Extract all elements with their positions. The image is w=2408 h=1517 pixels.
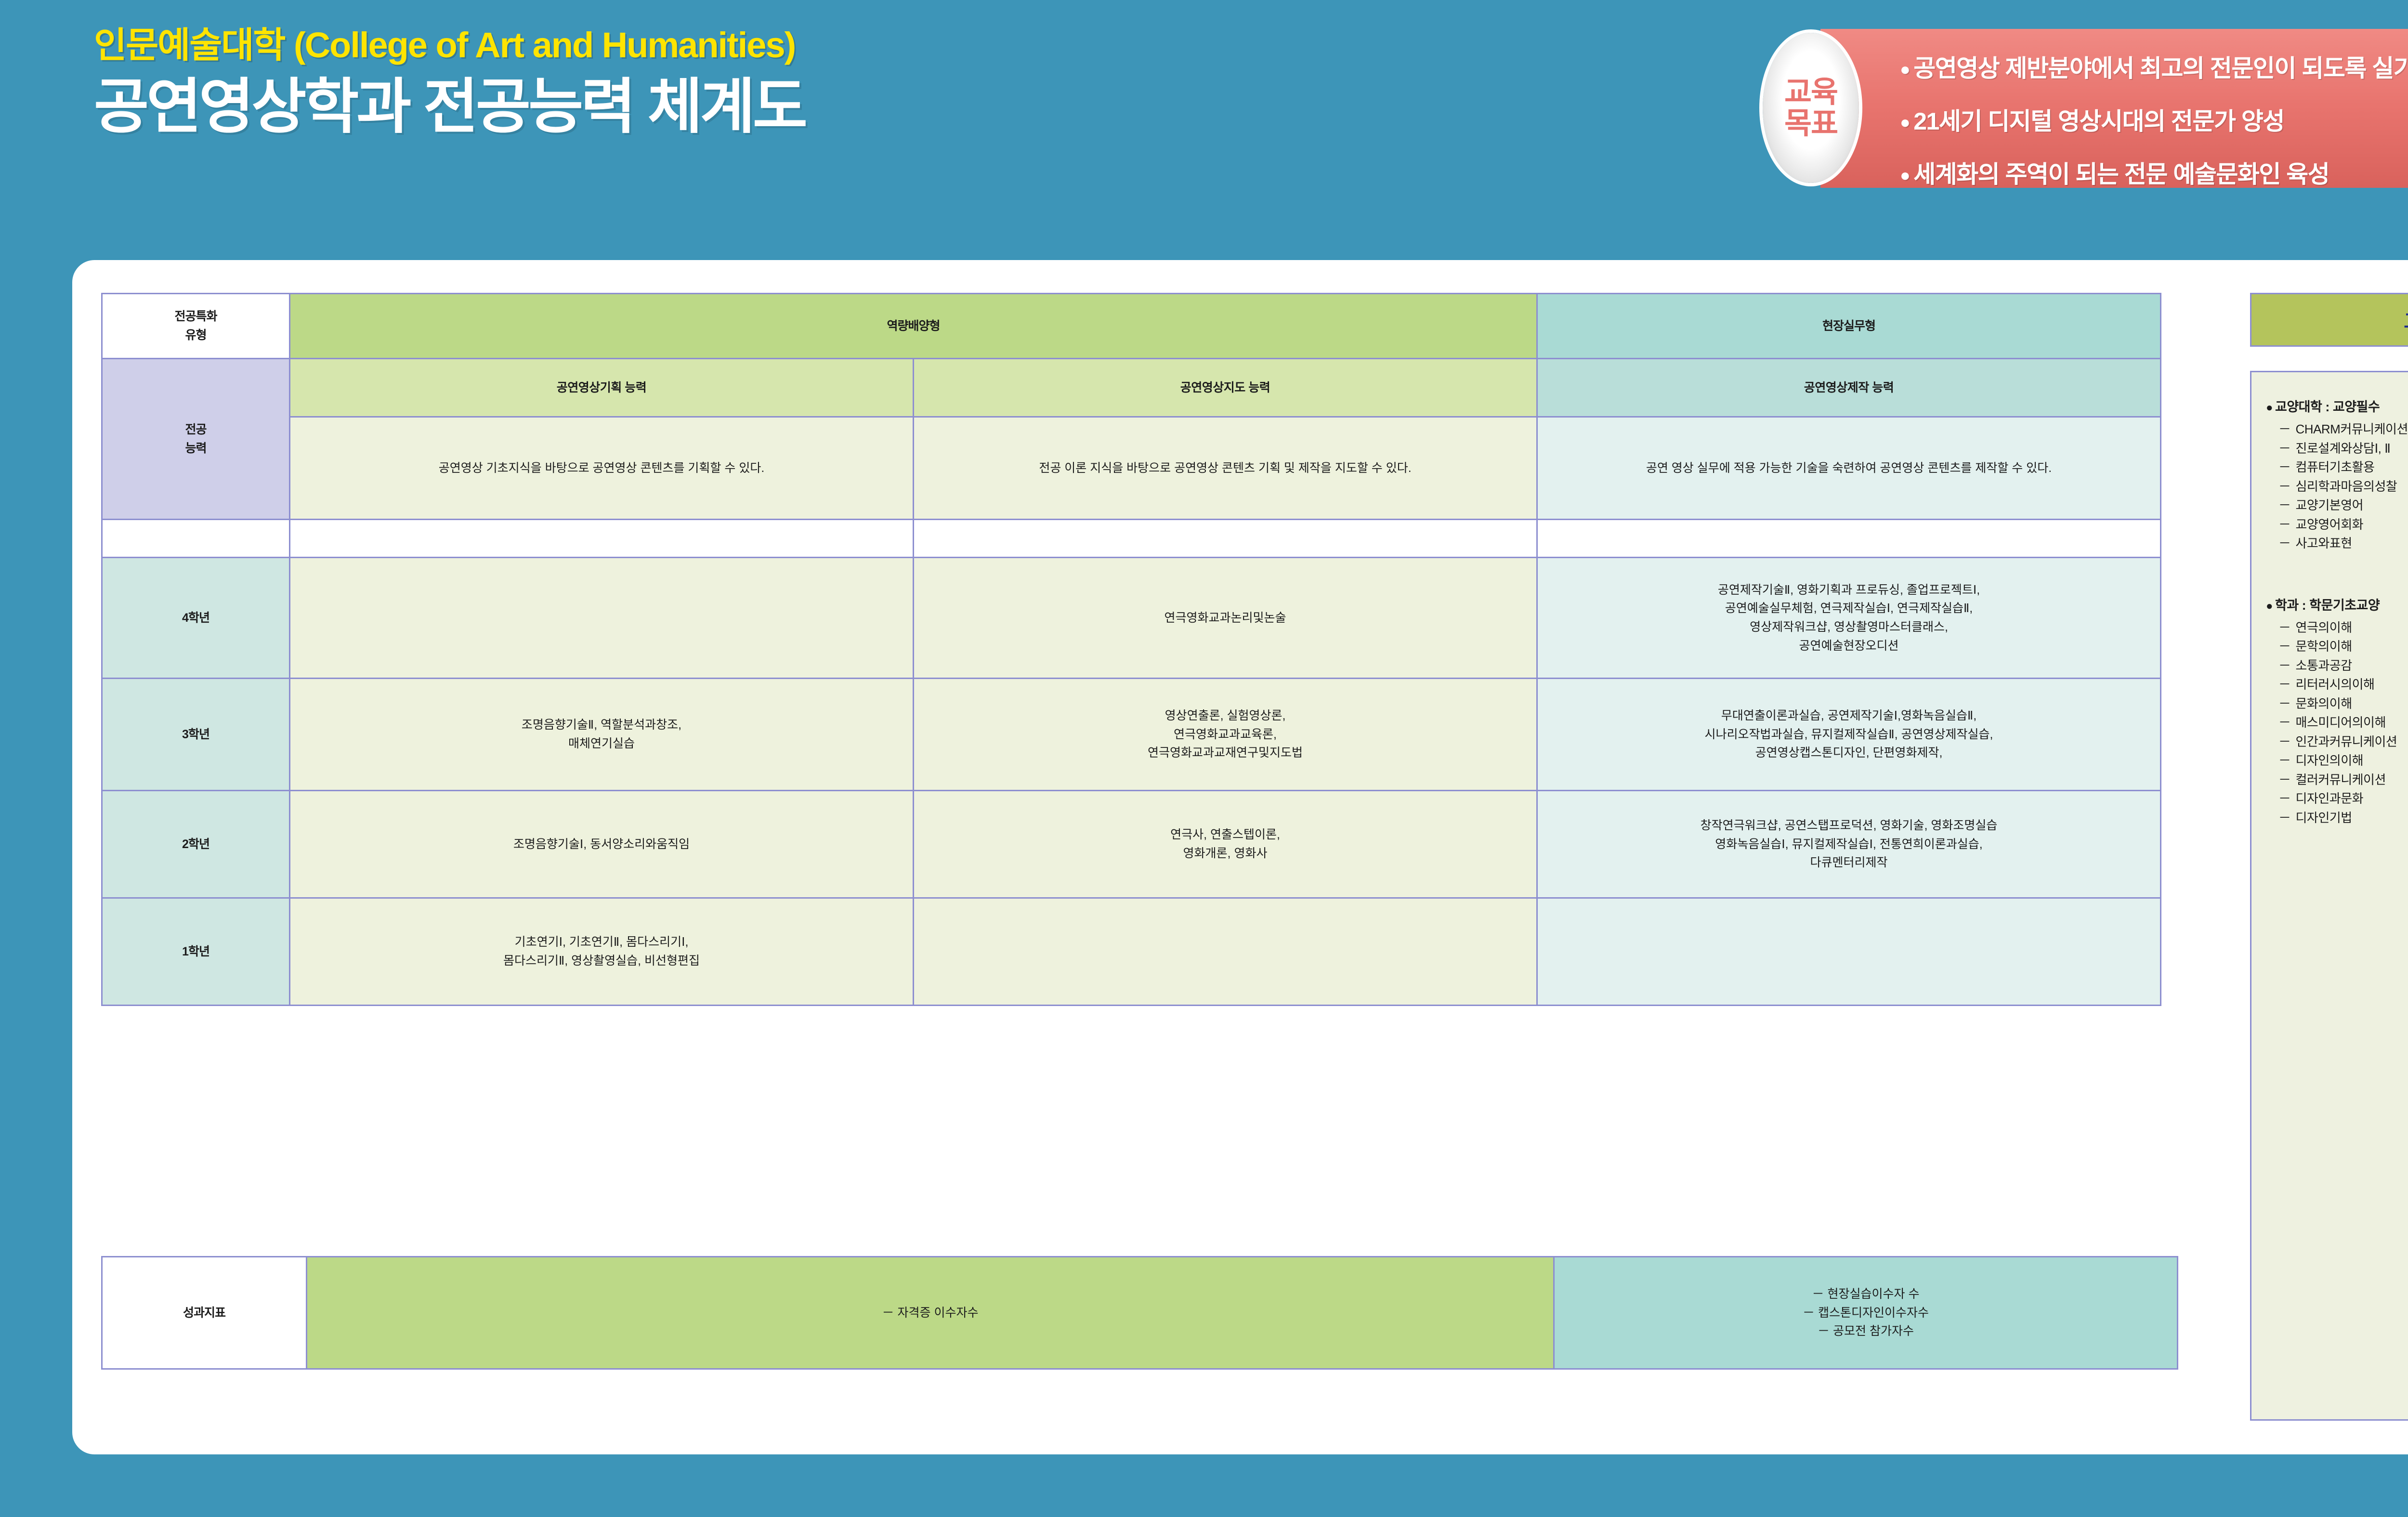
item-text: 문화의이해 — [2296, 696, 2352, 711]
liberal-group-foundation: ●학과 : 학문기초교양 －연극의이해 －문학의이해 －소통과공감 －리터러시의… — [2266, 596, 2408, 828]
dash-icon: － — [2278, 811, 2291, 825]
item-text: 컬러커뮤니케이션 — [2296, 772, 2386, 787]
item-text: 매스미디어의이해 — [2296, 715, 2386, 730]
kpi-item: － 공모전 참가자수 — [1562, 1322, 2169, 1341]
liberal-item: －인간과커뮤니케이션 — [2266, 732, 2408, 752]
group-title-text: 학과 : 학문기초교양 — [2275, 598, 2380, 613]
course-line: 연극영화교과교육론, — [922, 725, 1529, 744]
education-goal-badge-text: 교육 목표 — [1784, 77, 1837, 139]
matrix-spacer-row — [102, 520, 2161, 558]
track-header-practical: 현장실무형 — [1537, 294, 2161, 359]
dash-icon: － — [2278, 715, 2291, 730]
liberal-item: －매스미디어의이해 — [2266, 713, 2408, 732]
education-goals-banner: 교육 목표 ●공연영상 제반분야에서 최고의 전문인이 되도록 실기교육 강화 … — [1763, 29, 2408, 188]
competency-label-line-2: 능력 — [110, 439, 281, 458]
bullet-icon: ● — [2266, 600, 2273, 613]
competency-row-label: 전공 능력 — [102, 359, 290, 520]
year-label-1: 1학년 — [102, 898, 290, 1006]
dash-icon: － — [2278, 517, 2291, 532]
dash-icon: － — [2278, 498, 2291, 512]
group-title-text: 교양대학 : 교양필수 — [2275, 400, 2380, 414]
goal-text: 공연영상 제반분야에서 최고의 전문인이 되도록 실기교육 강화 — [1913, 55, 2408, 82]
liberal-item: －사고와표현 — [2266, 534, 2408, 553]
course-line: 매체연기실습 — [298, 734, 905, 753]
liberal-group-required: ●교양대학 : 교양필수 －CHARM커뮤니케이션 －진로설계와상담Ⅰ, Ⅱ －… — [2266, 397, 2408, 553]
panel-gap — [2266, 566, 2408, 596]
liberal-item: －연극의이해 — [2266, 618, 2408, 638]
dash-icon: － — [2278, 696, 2291, 711]
year4-production-courses: 공연제작기술Ⅱ, 영화기획과 프로듀싱, 졸업프로젝트Ⅰ, 공연예술실무체험, … — [1537, 558, 2161, 679]
liberal-item: －디자인과문화 — [2266, 789, 2408, 809]
competency-desc-teaching: 전공 이론 지식을 바탕으로 공연영상 콘텐츠 기획 및 제작을 지도할 수 있… — [914, 417, 1537, 520]
item-text: CHARM커뮤니케이션 — [2296, 422, 2408, 436]
liberal-item: －교양기본영어 — [2266, 496, 2408, 515]
competency-desc-planning: 공연영상 기초지식을 바탕으로 공연영상 콘텐츠를 기획할 수 있다. — [290, 417, 914, 520]
goal-badge-line-1: 교육 — [1784, 77, 1837, 108]
kpi-item: － 자격증 이수자수 — [315, 1304, 1545, 1322]
performance-indicator-table: 성과지표 － 자격증 이수자수 － 현장실습이수자 수 － 캡스톤디자인이수자수… — [101, 1256, 2178, 1370]
item-text: 인간과커뮤니케이션 — [2296, 734, 2397, 749]
dash-icon: － — [2278, 658, 2291, 673]
liberal-group-title: ●학과 : 학문기초교양 — [2266, 596, 2408, 615]
course-line: 공연예술현장오디션 — [1545, 637, 2152, 655]
goal-text: 21세기 디지털 영상시대의 전문가 양성 — [1913, 108, 2284, 135]
dash-icon: － — [2278, 620, 2291, 635]
page-header: 인문예술대학 (College of Art and Humanities) 공… — [0, 0, 2408, 250]
item-text: 소통과공감 — [2296, 658, 2352, 673]
competency-name-planning: 공연영상기획 능력 — [290, 359, 914, 417]
year1-planning-courses: 기초연기Ⅰ, 기초연기Ⅱ, 몸다스리기Ⅰ, 몸다스리기Ⅱ, 영상촬영실습, 비선… — [290, 898, 914, 1006]
competency-name-teaching: 공연영상지도 능력 — [914, 359, 1537, 417]
liberal-item: －컴퓨터기초활용 — [2266, 458, 2408, 477]
year-label-3: 3학년 — [102, 679, 290, 791]
course-line: 기초연기Ⅰ, 기초연기Ⅱ, 몸다스리기Ⅰ, — [298, 933, 905, 952]
dash-icon: － — [2278, 479, 2291, 494]
type-header-line-2: 유형 — [110, 326, 281, 345]
dash-icon: － — [2278, 536, 2291, 550]
course-line: 연극영화교과교재연구및지도법 — [922, 744, 1529, 762]
matrix-header-row: 전공특화 유형 역량배양형 현장실무형 — [102, 294, 2161, 359]
year-row-1: 1학년 기초연기Ⅰ, 기초연기Ⅱ, 몸다스리기Ⅰ, 몸다스리기Ⅱ, 영상촬영실습… — [102, 898, 2161, 1006]
goal-badge-line-2: 목표 — [1784, 108, 1837, 139]
dash-icon: － — [2278, 639, 2291, 654]
course-line: 시나리오작법과실습, 뮤지컬제작실습Ⅱ, 공연영상제작실습, — [1545, 725, 2152, 744]
item-text: 디자인기법 — [2296, 811, 2352, 825]
competency-matrix-table: 전공특화 유형 역량배양형 현장실무형 전공 능력 공연영상기획 능력 공연영상… — [101, 293, 2161, 1006]
dash-icon: － — [2278, 460, 2291, 474]
year-label-2: 2학년 — [102, 791, 290, 898]
course-line: 공연예술실무체험, 연극제작실습Ⅰ, 연극제작실습Ⅱ, — [1545, 599, 2152, 618]
liberal-item: －CHARM커뮤니케이션 — [2266, 420, 2408, 439]
liberal-item: －디자인의이해 — [2266, 751, 2408, 771]
item-text: 교양영어회화 — [2296, 517, 2364, 532]
year1-production-courses — [1537, 898, 2161, 1006]
item-text: 진로설계와상담Ⅰ, Ⅱ — [2296, 441, 2391, 456]
matrix-type-header: 전공특화 유형 — [102, 294, 290, 359]
course-line: 조명음향기술Ⅱ, 역할분석과창조, — [298, 716, 905, 734]
liberal-item: －컬러커뮤니케이션 — [2266, 771, 2408, 790]
course-line: 영상제작워크샵, 영상촬영마스터클래스, — [1545, 618, 2152, 637]
competency-label-line-1: 전공 — [110, 420, 281, 439]
liberal-item: －디자인기법 — [2266, 809, 2408, 828]
year3-planning-courses: 조명음향기술Ⅱ, 역할분석과창조, 매체연기실습 — [290, 679, 914, 791]
dash-icon: － — [2278, 791, 2291, 806]
goal-text: 세계화의 주역이 되는 전문 예술문화인 육성 — [1913, 161, 2329, 188]
competency-description-row: 공연영상 기초지식을 바탕으로 공연영상 콘텐츠를 기획할 수 있다. 전공 이… — [102, 417, 2161, 520]
performance-indicator-section: 성과지표 － 자격증 이수자수 － 현장실습이수자 수 － 캡스톤디자인이수자수… — [101, 1256, 2230, 1370]
panel-liberal-arts-body: ●교양대학 : 교양필수 －CHARM커뮤니케이션 －진로설계와상담Ⅰ, Ⅱ －… — [2250, 371, 2408, 1421]
liberal-item: －진로설계와상담Ⅰ, Ⅱ — [2266, 439, 2408, 458]
kpi-practical-items: － 현장실습이수자 수 － 캡스톤디자인이수자수 － 공모전 참가자수 — [1554, 1257, 2178, 1369]
item-text: 리터러시의이해 — [2296, 677, 2375, 692]
panel-liberal-arts: 교양 ●교양대학 : 교양필수 －CHARM커뮤니케이션 －진로설계와상담Ⅰ, … — [2250, 293, 2408, 1421]
year4-planning-courses — [290, 558, 914, 679]
dash-icon: － — [2278, 772, 2291, 787]
item-text: 디자인과문화 — [2296, 791, 2364, 806]
course-line: 몸다스리기Ⅱ, 영상촬영실습, 비선형편집 — [298, 952, 905, 970]
item-text: 연극의이해 — [2296, 620, 2352, 635]
dash-icon: － — [2278, 753, 2291, 768]
kpi-label: 성과지표 — [102, 1257, 307, 1369]
item-text: 심리학과마음의성찰 — [2296, 479, 2397, 494]
item-text: 컴퓨터기초활용 — [2296, 460, 2375, 474]
kpi-item: － 캡스톤디자인이수자수 — [1562, 1304, 2169, 1322]
track-header-cultivation: 역량배양형 — [290, 294, 1537, 359]
kpi-item: － 현장실습이수자 수 — [1562, 1285, 2169, 1304]
item-text: 디자인의이해 — [2296, 753, 2364, 768]
type-header-line-1: 전공특화 — [110, 307, 281, 326]
course-line: 공연제작기술Ⅱ, 영화기획과 프로듀싱, 졸업프로젝트Ⅰ, — [1545, 581, 2152, 600]
year2-teaching-courses: 연극사, 연출스텝이론, 영화개론, 영화사 — [914, 791, 1537, 898]
liberal-item: －리터러시의이해 — [2266, 675, 2408, 694]
kpi-row: 성과지표 － 자격증 이수자수 － 현장실습이수자 수 － 캡스톤디자인이수자수… — [102, 1257, 2178, 1369]
year-row-2: 2학년 조명음향기술Ⅰ, 동서양소리와움직임 연극사, 연출스텝이론, 영화개론… — [102, 791, 2161, 898]
competency-matrix: 전공특화 유형 역량배양형 현장실무형 전공 능력 공연영상기획 능력 공연영상… — [101, 293, 2230, 1006]
kpi-cultivation-items: － 자격증 이수자수 — [307, 1257, 1554, 1369]
year-label-4: 4학년 — [102, 558, 290, 679]
goal-item: ●공연영상 제반분야에서 최고의 전문인이 되도록 실기교육 강화 — [1900, 49, 2408, 84]
dash-icon: － — [2278, 677, 2291, 692]
year3-teaching-courses: 영상연출론, 실험영상론, 연극영화교과교육론, 연극영화교과교재연구및지도법 — [914, 679, 1537, 791]
item-text: 사고와표현 — [2296, 536, 2352, 550]
bullet-icon: ● — [2266, 401, 2273, 414]
dash-icon: － — [2278, 422, 2291, 436]
bullet-icon: ● — [1900, 165, 1910, 185]
competency-name-row: 전공 능력 공연영상기획 능력 공연영상지도 능력 공연영상제작 능력 — [102, 359, 2161, 417]
year3-production-courses: 무대연출이론과실습, 공연제작기술Ⅰ,영화녹음실습Ⅱ, 시나리오작법과실습, 뮤… — [1537, 679, 2161, 791]
course-line: 창작연극워크샵, 공연스탭프로덕션, 영화기술, 영화조명실습 — [1545, 816, 2152, 835]
liberal-item: －문화의이해 — [2266, 694, 2408, 714]
title-block: 인문예술대학 (College of Art and Humanities) 공… — [94, 26, 805, 137]
page-title-suffix: 전공능력 체계도 — [409, 74, 805, 140]
course-line: 다큐멘터리제작 — [1545, 853, 2152, 872]
course-line: 영상연출론, 실험영상론, — [922, 706, 1529, 725]
competency-name-production: 공연영상제작 능력 — [1537, 359, 2161, 417]
competency-desc-production: 공연 영상 실무에 적용 가능한 기술을 숙련하여 공연영상 콘텐츠를 제작할 … — [1537, 417, 2161, 520]
year-row-4: 4학년 연극영화교과논리및논술 공연제작기술Ⅱ, 영화기획과 프로듀싱, 졸업프… — [102, 558, 2161, 679]
goal-item: ●21세기 디지털 영상시대의 전문가 양성 — [1900, 102, 2408, 137]
panel-liberal-arts-title: 교양 — [2250, 293, 2408, 347]
course-line: 영화녹음실습Ⅰ, 뮤지컬제작실습Ⅰ, 전통연희이론과실습, — [1545, 835, 2152, 854]
page-title: 공연영상학과 전공능력 체계도 — [94, 77, 805, 137]
liberal-item: －문학의이해 — [2266, 637, 2408, 656]
goal-item: ●세계화의 주역이 되는 전문 예술문화인 육성 — [1900, 155, 2408, 190]
education-goals-list: ●공연영상 제반분야에서 최고의 전문인이 되도록 실기교육 강화 ●21세기 … — [1900, 49, 2408, 190]
bullet-icon: ● — [1900, 59, 1910, 79]
course-line: 무대연출이론과실습, 공연제작기술Ⅰ,영화녹음실습Ⅱ, — [1545, 706, 2152, 725]
dash-icon: － — [2278, 734, 2291, 749]
year2-planning-courses: 조명음향기술Ⅰ, 동서양소리와움직임 — [290, 791, 914, 898]
bullet-icon: ● — [1900, 112, 1910, 132]
page-title-department: 공연영상학과 — [94, 74, 409, 140]
item-text: 교양기본영어 — [2296, 498, 2364, 512]
year-row-3: 3학년 조명음향기술Ⅱ, 역할분석과창조, 매체연기실습 영상연출론, 실험영상… — [102, 679, 2161, 791]
dash-icon: － — [2278, 441, 2291, 456]
college-name: 인문예술대학 (College of Art and Humanities) — [94, 26, 805, 64]
course-line: 공연영상캡스톤디자인, 단편영화제작, — [1545, 744, 2152, 762]
item-text: 문학의이해 — [2296, 639, 2352, 654]
liberal-item: －심리학과마음의성찰 — [2266, 477, 2408, 497]
year4-teaching-courses: 연극영화교과논리및논술 — [914, 558, 1537, 679]
year1-teaching-courses — [914, 898, 1537, 1006]
liberal-item: －소통과공감 — [2266, 656, 2408, 676]
education-goal-badge: 교육 목표 — [1763, 33, 1859, 183]
course-line: 조명음향기술Ⅰ, 동서양소리와움직임 — [298, 835, 905, 854]
liberal-item: －교양영어회화 — [2266, 515, 2408, 535]
course-line: 연극사, 연출스텝이론, — [922, 825, 1529, 844]
liberal-group-title: ●교양대학 : 교양필수 — [2266, 397, 2408, 417]
year2-production-courses: 창작연극워크샵, 공연스탭프로덕션, 영화기술, 영화조명실습 영화녹음실습Ⅰ,… — [1537, 791, 2161, 898]
course-line: 영화개론, 영화사 — [922, 844, 1529, 863]
